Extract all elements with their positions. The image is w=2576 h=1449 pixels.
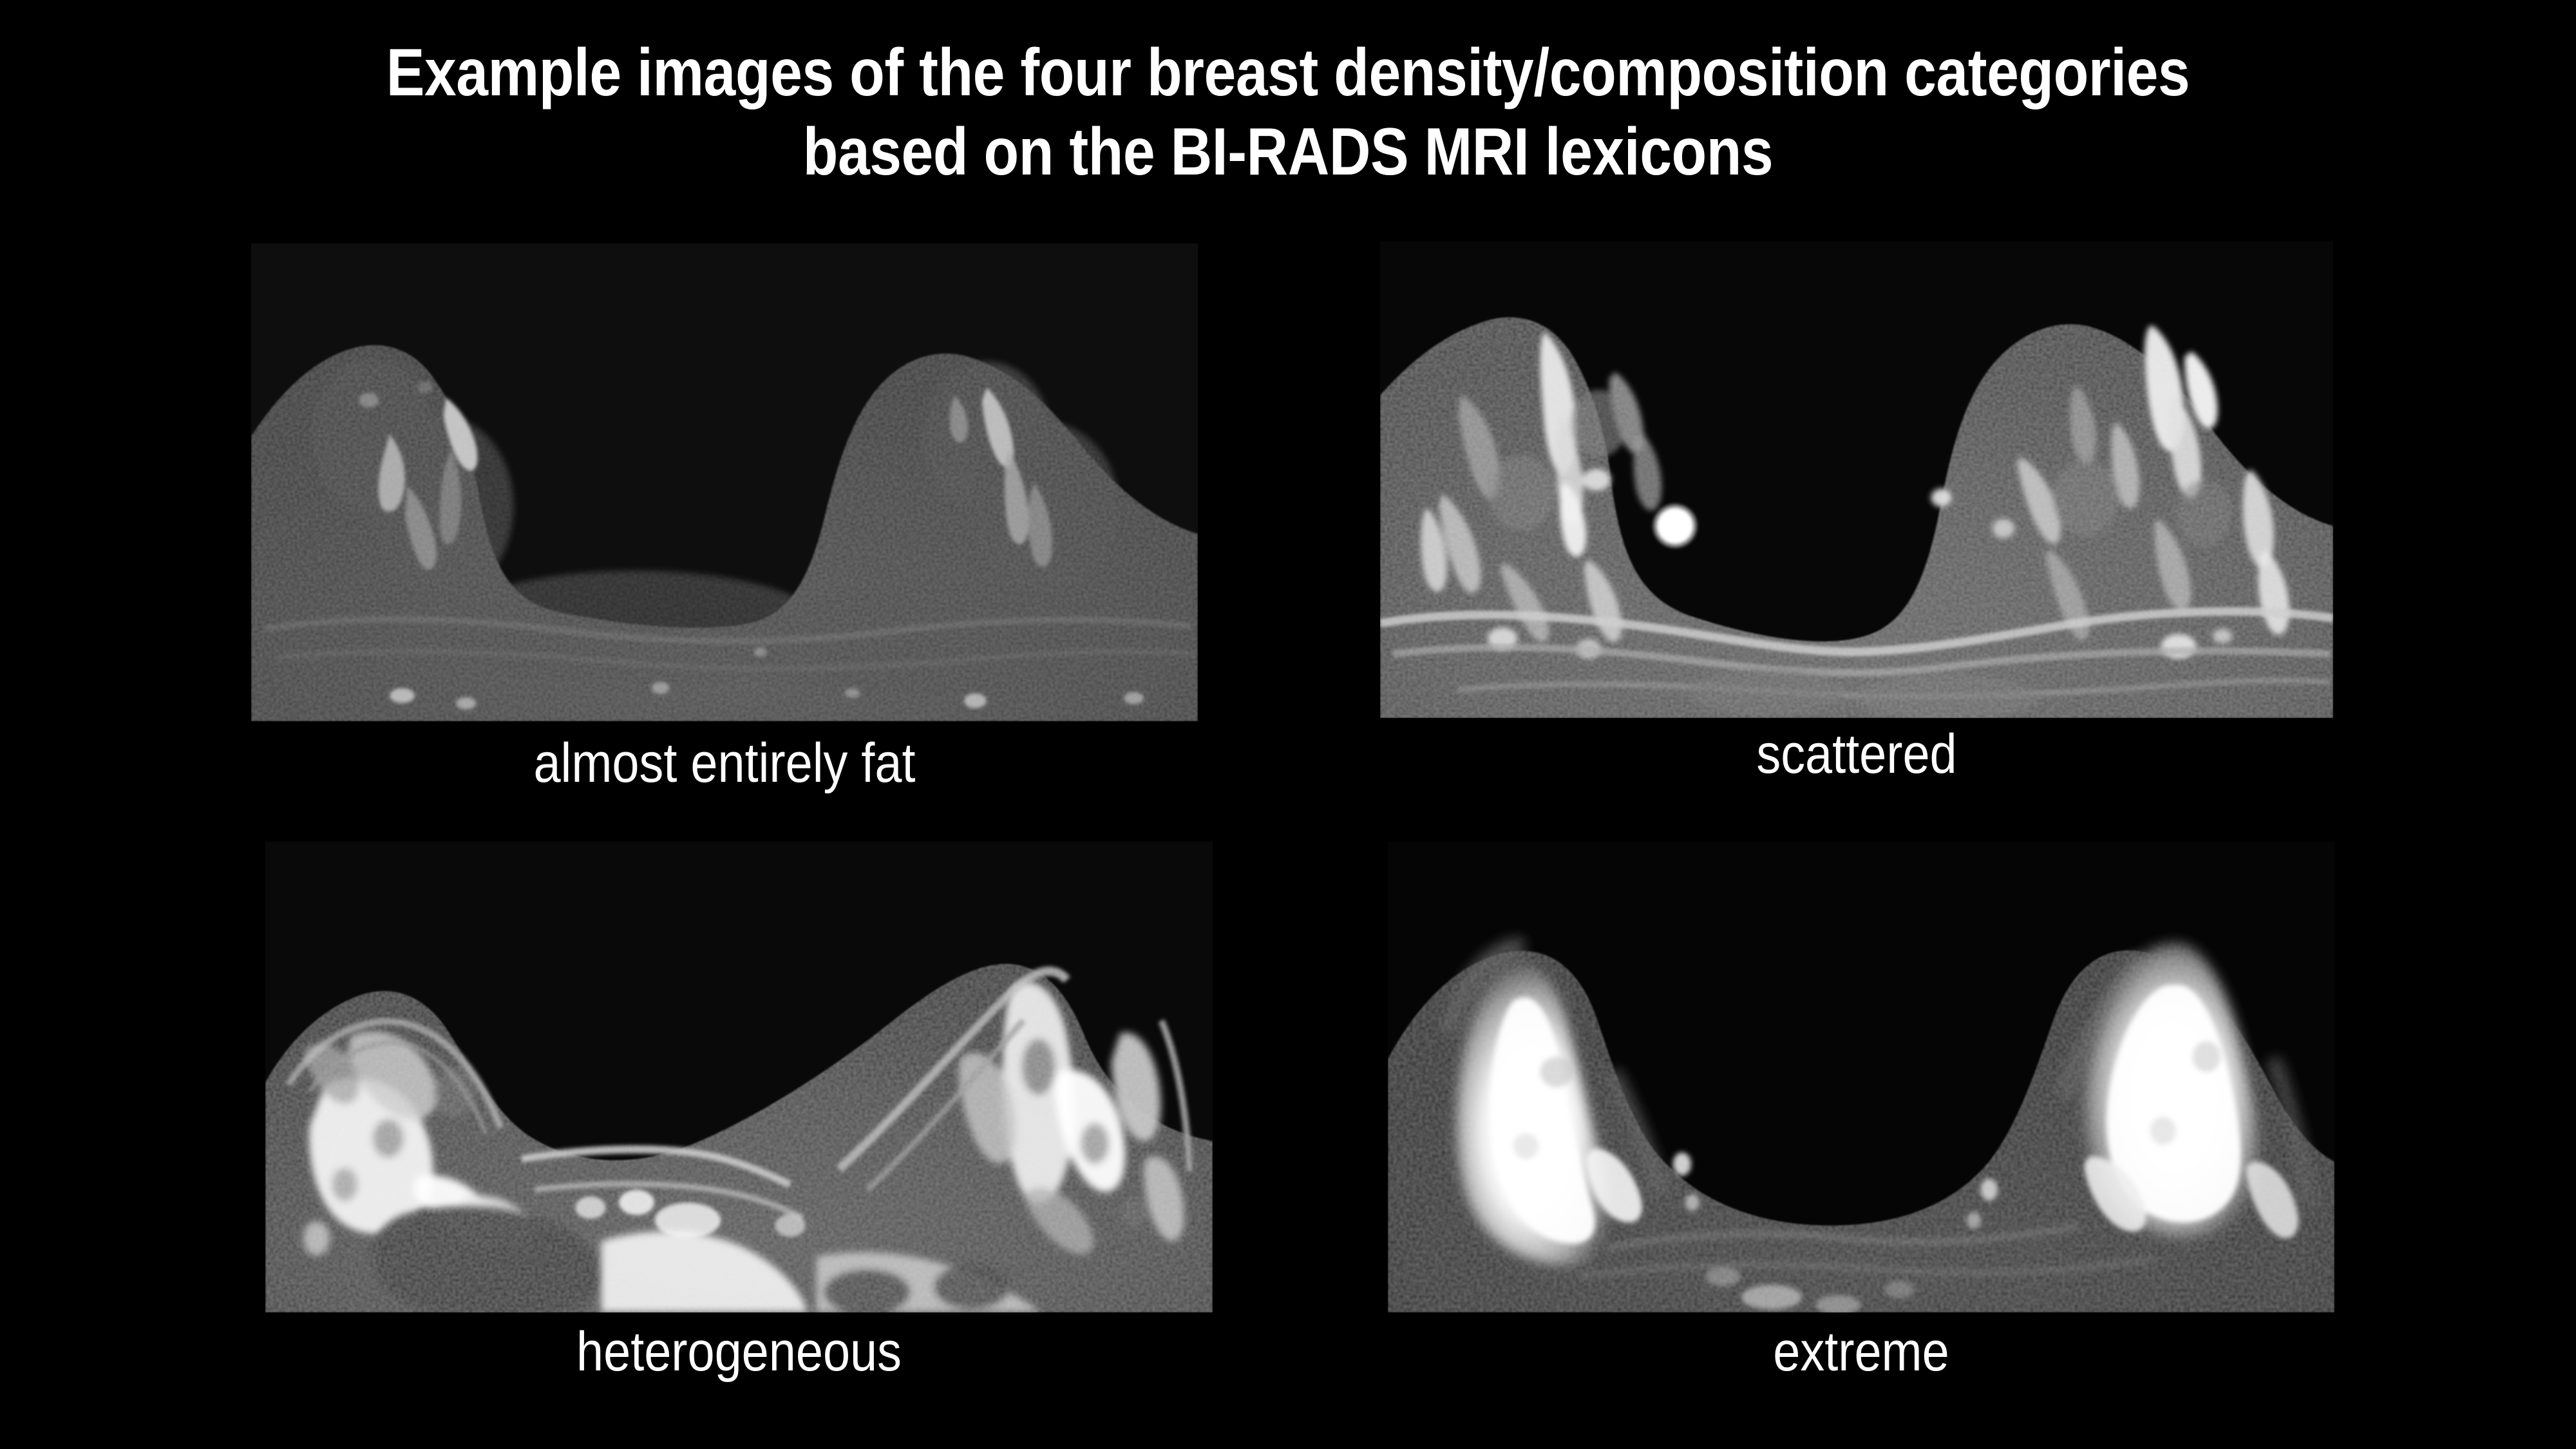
mri-panel-extreme[interactable] — [1388, 842, 2334, 1312]
page-title: Example images of the four breast densit… — [180, 33, 2396, 191]
mri-image-heterogeneous — [265, 842, 1213, 1312]
panel-caption-heterogeneous: heterogeneous — [322, 1324, 1155, 1379]
panel-caption-extreme: extreme — [1444, 1324, 2278, 1379]
mri-image-almost-entirely-fat — [251, 243, 1198, 721]
mri-image-scattered — [1380, 241, 2333, 718]
panel-caption-almost-entirely-fat: almost entirely fat — [308, 735, 1141, 791]
mri-panel-almost-entirely-fat[interactable] — [251, 243, 1198, 721]
mri-panel-heterogeneous[interactable] — [265, 842, 1213, 1312]
mri-panel-scattered[interactable] — [1380, 241, 2333, 718]
panel-caption-scattered: scattered — [1437, 726, 2276, 782]
mri-image-extreme — [1388, 842, 2334, 1312]
